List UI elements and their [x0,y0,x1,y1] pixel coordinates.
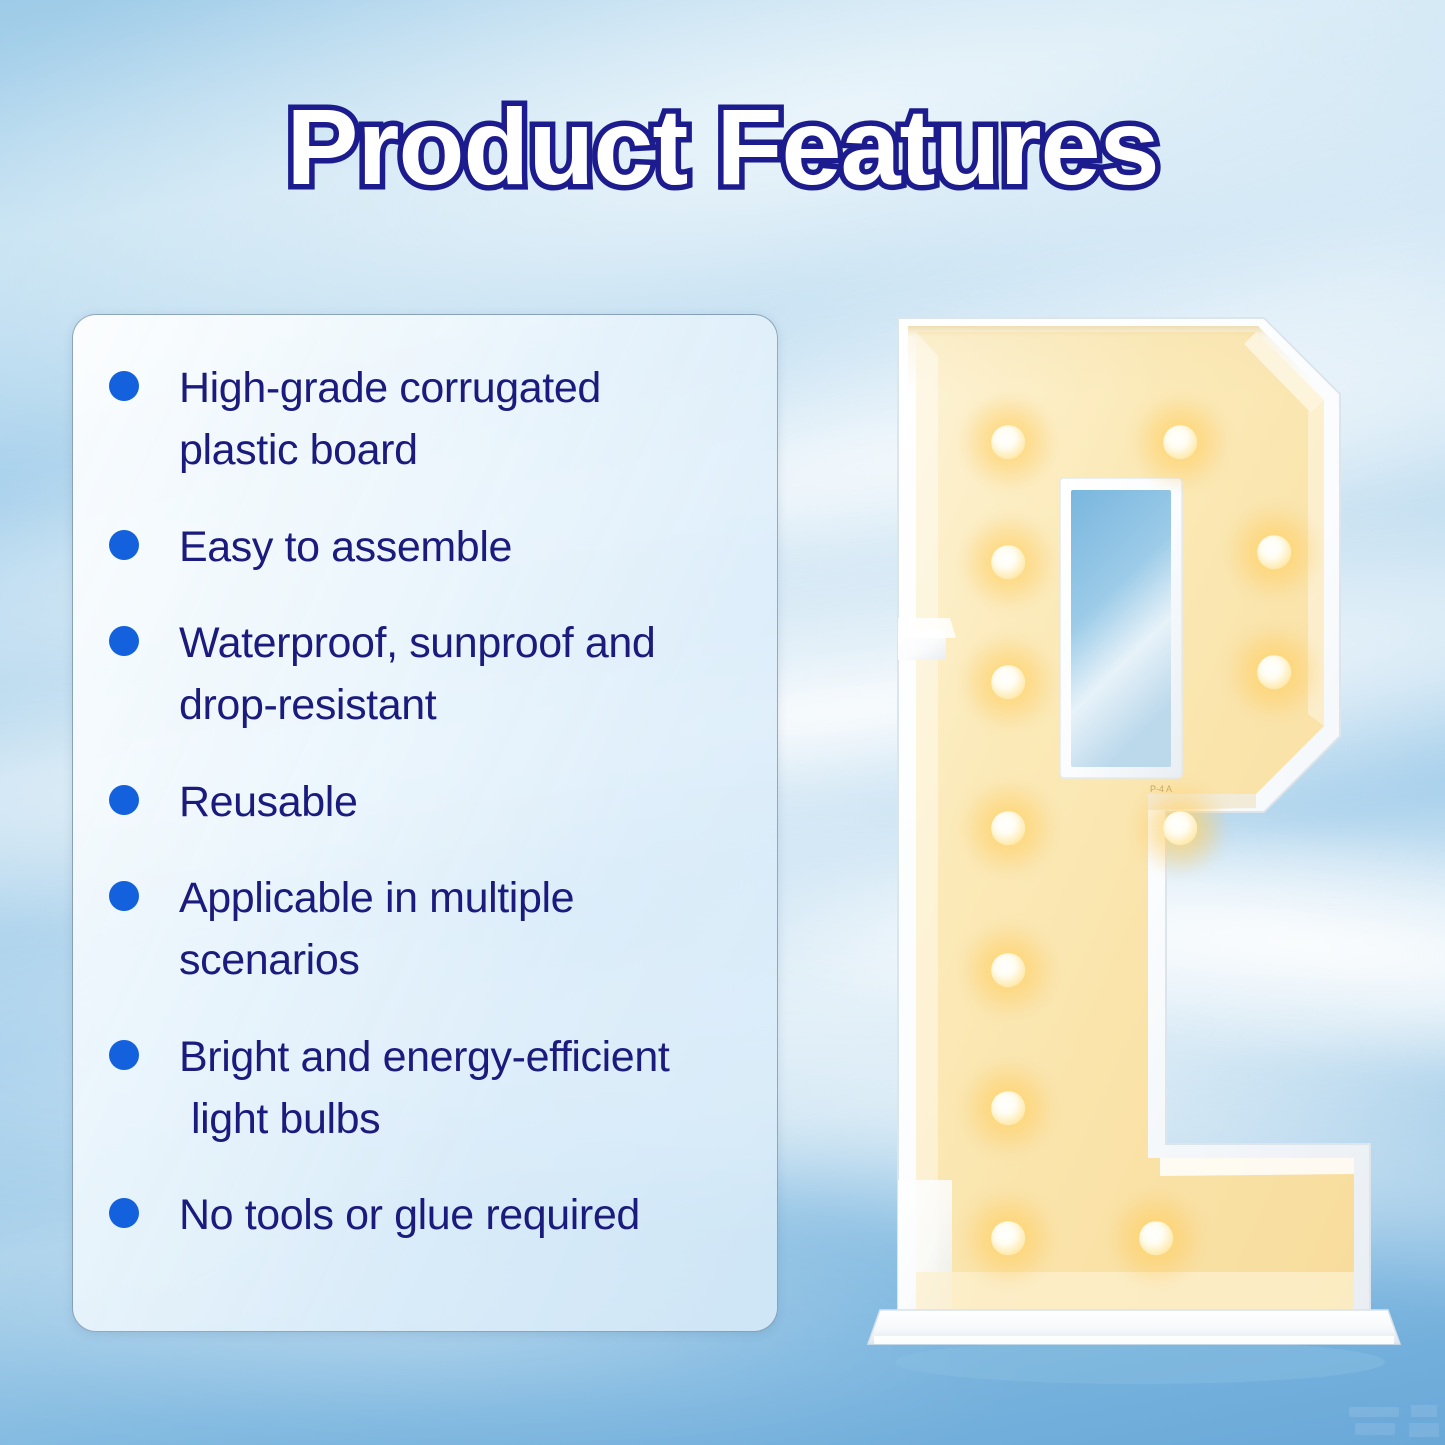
led-bulb [978,798,1038,858]
led-bulb-core [991,545,1025,579]
list-item: Waterproof, sunproof and drop-resistant [109,612,751,737]
letter-plinth-edge [874,1336,1394,1344]
feature-text: No tools or glue required [179,1184,640,1246]
feature-line-2: drop-resistant [179,674,655,736]
product-image-marquee-letter: P-4 A [860,300,1445,1390]
letter-shadow [895,1340,1385,1384]
feature-line-2: plastic board [179,419,601,481]
led-bulb-core [1139,1221,1173,1255]
feature-line-1: Bright and energy-efficient [179,1033,669,1081]
led-bulb [1244,642,1304,702]
led-bulb-core [991,425,1025,459]
letter-counter-opening [1071,490,1171,767]
letter-inner-wall-left [916,332,938,1310]
feature-line-2: light bulbs [179,1088,669,1150]
led-bulb [978,940,1038,1000]
bullet-icon [109,530,139,560]
feature-line-1: Easy to assemble [179,523,512,571]
feature-line-1: Applicable in multiple [179,874,574,922]
feature-text: Easy to assemble [179,516,512,578]
feature-text: Reusable [179,771,357,833]
feature-line-2: scenarios [179,929,574,991]
feature-text: Applicable in multiple scenarios [179,867,574,992]
led-bulb-core [1163,811,1197,845]
led-bulb-core [991,665,1025,699]
product-feature-image: Product Features High-grade corrugated p… [0,0,1445,1445]
led-bulb-core [991,1091,1025,1125]
letter-foot-shelf [1148,1158,1354,1176]
led-bulb [1126,1208,1186,1268]
led-bulb-core [1257,535,1291,569]
feature-list: High-grade corrugated plastic board Easy… [109,357,751,1247]
list-item: Reusable [109,771,751,833]
led-bulb-core [991,811,1025,845]
letter-left-notch-highlight [898,618,956,638]
led-bulb [978,532,1038,592]
bullet-icon [109,785,139,815]
led-bulb [978,1078,1038,1138]
feature-text: High-grade corrugated plastic board [179,357,601,482]
list-item: Bright and energy-efficient light bulbs [109,1026,751,1151]
bullet-icon [109,1040,139,1070]
led-bulb [1150,412,1210,472]
feature-line-1: No tools or glue required [179,1191,640,1239]
led-bulb-core [991,1221,1025,1255]
led-bulb [978,1208,1038,1268]
list-item: No tools or glue required [109,1184,751,1246]
list-item: Easy to assemble [109,516,751,578]
feature-text: Bright and energy-efficient light bulbs [179,1026,669,1151]
bullet-icon [109,1198,139,1228]
feature-line-1: High-grade corrugated [179,364,601,412]
led-bulb [978,412,1038,472]
bullet-icon [109,371,139,401]
page-title: Product Features [0,88,1445,207]
led-bulb [1150,798,1210,858]
bullet-icon [109,626,139,656]
list-item: Applicable in multiple scenarios [109,867,751,992]
list-item: High-grade corrugated plastic board [109,357,751,482]
bullet-icon [109,881,139,911]
feature-text: Waterproof, sunproof and drop-resistant [179,612,655,737]
feature-line-1: Reusable [179,778,357,826]
led-bulb [1244,522,1304,582]
led-bulb-core [1163,425,1197,459]
led-bulb-core [1257,655,1291,689]
led-bulb [978,652,1038,712]
led-bulb-core [1257,421,1291,455]
feature-line-1: Waterproof, sunproof and [179,619,655,667]
features-panel: High-grade corrugated plastic board Easy… [72,314,778,1332]
led-bulb-core [991,953,1025,987]
corner-watermark-icon [1345,1397,1441,1443]
